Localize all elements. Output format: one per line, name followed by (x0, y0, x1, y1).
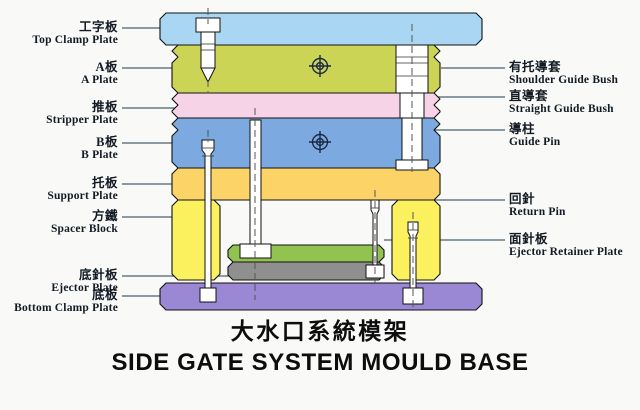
label-en: A Plate (81, 74, 118, 87)
label-en: Spacer Block (51, 223, 118, 236)
label-ejector-retainer-plate: 面針板 Ejector Retainer Plate (509, 232, 623, 259)
label-en: Stripper Plate (46, 114, 118, 127)
label-cn: 推板 (46, 100, 118, 114)
label-cn: B板 (81, 135, 118, 149)
label-cn: 直導套 (509, 89, 614, 103)
label-cn: 回針 (509, 192, 566, 206)
label-guide-pin: 導柱 Guide Pin (509, 122, 560, 149)
mould-base-diagram: .ol{stroke:#111;stroke-width:1.1;stroke-… (0, 0, 640, 410)
label-en: B Plate (81, 149, 118, 162)
label-cn: 方鐵 (51, 209, 118, 223)
label-cn: 導柱 (509, 122, 560, 136)
label-shoulder-guide-bush: 有托導套 Shoulder Guide Bush (509, 60, 618, 87)
label-a-plate: A板 A Plate (81, 60, 118, 87)
label-support-plate: 托板 Support Plate (47, 176, 118, 203)
label-en: Support Plate (47, 190, 118, 203)
label-straight-guide-bush: 直導套 Straight Guide Bush (509, 89, 614, 116)
label-cn: A板 (81, 60, 118, 74)
diagram-title: 大水口系統模架 SIDE GATE SYSTEM MOULD BASE (0, 312, 640, 377)
label-en: Shoulder Guide Bush (509, 74, 618, 87)
label-cn: 工字板 (32, 20, 118, 34)
label-cn: 托板 (47, 176, 118, 190)
label-top-clamp-plate: 工字板 Top Clamp Plate (32, 20, 118, 47)
spacer-block-left (172, 200, 220, 280)
label-b-plate: B板 B Plate (81, 135, 118, 162)
label-cn: 面針板 (509, 232, 623, 246)
label-bottom-clamp-plate: 底板 Bottom Clamp Plate (14, 288, 118, 315)
return-pin-right (366, 190, 384, 284)
label-en: Ejector Retainer Plate (509, 246, 623, 259)
label-cn: 底板 (14, 288, 118, 302)
label-spacer-block: 方鐵 Spacer Block (51, 209, 118, 236)
label-en: Return Pin (509, 206, 566, 219)
label-stripper-plate: 推板 Stripper Plate (46, 100, 118, 127)
label-en: Guide Pin (509, 136, 560, 149)
label-en: Top Clamp Plate (32, 34, 118, 47)
label-return-pin: 回針 Return Pin (509, 192, 566, 219)
plate-support (172, 168, 440, 200)
label-cn: 有托導套 (509, 60, 618, 74)
label-en: Straight Guide Bush (509, 103, 614, 116)
title-chinese: 大水口系統模架 (0, 312, 640, 346)
title-english: SIDE GATE SYSTEM MOULD BASE (0, 349, 640, 377)
plate-ejector (228, 262, 384, 280)
label-cn: 底針板 (51, 268, 118, 282)
